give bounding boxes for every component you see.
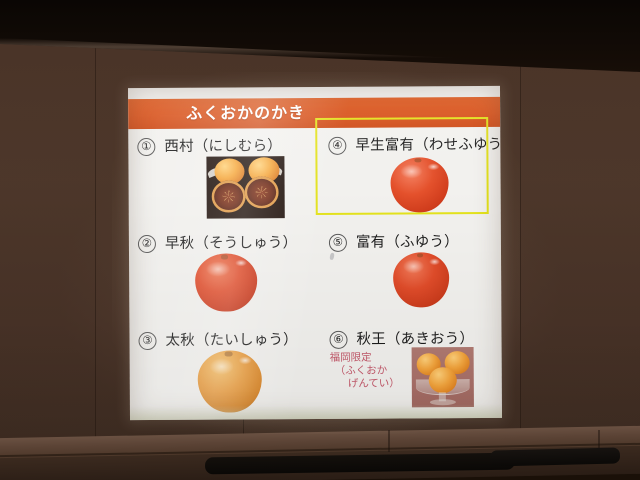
variety-name-1: 西村（にしむら） [164,134,282,156]
variety-number-5: ⑤ [329,234,347,252]
wall-seam [95,46,96,440]
variety-cell-5: ⑤ 富有（ふゆう） [315,224,502,322]
variety-image-2 [195,253,257,311]
screenshot-root: ふくおかのかき ① 西村（にしむら） [0,0,640,480]
variety-name-6: 秋王（あきおう） [356,327,474,349]
variety-number-4: ④ [328,137,346,155]
slide-title-banner [128,97,500,129]
fukuoka-exclusive-note: 福岡限定 （ふくおか げんてい） [330,351,400,390]
variety-name-2: 早秋（そうしゅう） [165,231,297,253]
variety-grid: ① 西村（にしむら） ④ 早 [128,127,502,420]
dark-object-on-ledge [490,447,620,466]
variety-name-4: 早生富有（わせふゆう） [355,133,502,155]
variety-heading: ⑥ 秋王（あきおう） [315,327,502,350]
note-line-2: （ふくおか [335,364,400,377]
variety-heading: ⑤ 富有（ふゆう） [315,230,502,253]
note-line-3: げんてい） [348,377,400,390]
variety-cell-3: ③ 太秋（たいしゅう） [129,322,316,420]
slide-title: ふくおかのかき [186,99,305,124]
variety-name-3: 太秋（たいしゅう） [165,328,297,350]
variety-number-3: ③ [138,332,156,350]
variety-photo-6 [412,347,474,407]
variety-heading: ① 西村（にしむら） [128,134,323,157]
wall-seam [520,46,521,440]
variety-heading: ③ 太秋（たいしゅう） [129,328,324,351]
note-line-1: 福岡限定 [330,351,400,364]
variety-heading: ④ 早生富有（わせふゆう） [314,133,502,156]
variety-number-6: ⑥ [329,331,347,349]
variety-cell-2: ② 早秋（そうしゅう） [129,225,316,323]
variety-cell-1: ① 西村（にしむら） [128,128,315,226]
variety-number-2: ② [138,235,156,253]
variety-number-1: ① [137,138,155,156]
variety-image-3 [198,350,262,412]
variety-name-5: 富有（ふゆう） [356,230,459,252]
projected-slide: ふくおかのかき ① 西村（にしむら） [128,86,502,420]
variety-cell-6: ⑥ 秋王（あきおう） 福岡限定 （ふくおか げんてい） [315,321,502,419]
variety-image-4 [390,157,448,212]
variety-heading: ② 早秋（そうしゅう） [129,231,324,254]
variety-cell-4: ④ 早生富有（わせふゆう） [314,127,501,225]
variety-image-5 [393,252,449,307]
variety-photo-1 [206,156,284,218]
